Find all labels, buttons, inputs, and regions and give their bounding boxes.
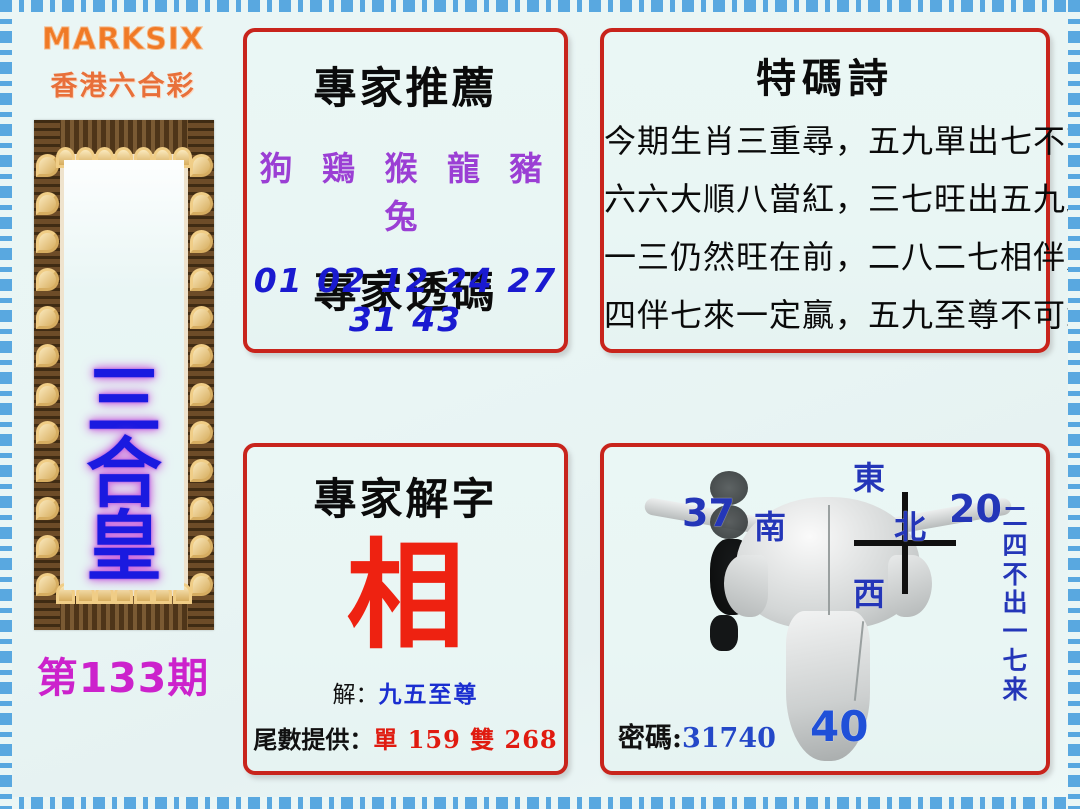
skull-lower-nasal-cavity (710, 615, 738, 651)
word-explanation-label: 解： (333, 682, 379, 708)
skull-number-left: 37 (682, 491, 735, 535)
skull-vertical-hint-text: 二四不出一七来 (998, 503, 1032, 704)
special-number-poem-panel: 特碼詩 今期生肖三重尋，五九單出七不離， 六六大順八當紅，三七旺出五九跟。 一三… (600, 28, 1050, 353)
tail-number-value: 單 159 雙 268 (373, 725, 557, 754)
poem-line-1: 今期生肖三重尋，五九單出七不離， (604, 116, 1046, 162)
poster-root: MARKSIX 香港六合彩 (0, 0, 1080, 809)
compass-south-label: 南 (754, 502, 786, 548)
recommendation-title: 專家推薦 (247, 54, 564, 116)
word-explanation-row: 解：九五至尊 (247, 675, 564, 709)
expert-recommendation-panel: 專家推薦 狗 鶏 猴 龍 豬 兔 專家透碼 01 02 12 24 27 31 … (243, 28, 568, 353)
tail-number-row: 尾數提供：單 159 雙 268 (247, 720, 564, 755)
frame-left-border (0, 0, 12, 809)
left-column: MARKSIX 香港六合彩 (12, 12, 234, 797)
skull-left-brow (724, 555, 768, 617)
expert-word-panel: 專家解字 相 解：九五至尊 尾數提供：單 159 雙 268 (243, 443, 568, 775)
skull-number-right: 20 (949, 487, 1002, 531)
frame-top-border (0, 0, 1080, 12)
compass-north-label: 北 (894, 502, 926, 548)
ornate-plaque: 三合皇 (34, 120, 214, 630)
plaque-title-text: 三合皇 (86, 365, 162, 584)
poem-title: 特碼詩 (604, 46, 1046, 104)
frame-bottom-border (0, 797, 1080, 809)
skull-crack-upper (828, 505, 830, 615)
brand-chinese-logo: 香港六合彩 (12, 64, 234, 103)
compass-east-label: 東 (853, 453, 885, 499)
frame-right-border (1068, 0, 1080, 809)
recommended-numbers: 01 02 12 24 27 31 43 (247, 261, 564, 339)
compass-west-label: 西 (853, 569, 885, 615)
plaque-right-scroll-ornaments (188, 146, 214, 604)
word-explanation-value: 九五至尊 (379, 681, 479, 708)
secret-code-label: 密碼: (618, 723, 682, 754)
brand-english-logo: MARKSIX (12, 22, 234, 57)
plaque-left-scroll-ornaments (34, 146, 60, 604)
featured-character: 相 (247, 537, 564, 655)
poem-line-3: 一三仍然旺在前，二八二七相伴走， (604, 232, 1046, 278)
secret-code-value: 31740 (682, 723, 776, 754)
secret-code-row: 密碼:31740 (618, 716, 776, 755)
poem-line-4: 四伴七來一定贏，五九至尊不可鬆。 (604, 290, 1046, 336)
word-panel-title: 專家解字 (247, 465, 564, 527)
skull-number-bottom: 40 (810, 702, 868, 751)
plaque-inner-surface: 三合皇 (64, 160, 184, 590)
skull-illustration-area: 東 西 南 北 37 20 40 二四不出一七来 密碼:31740 (604, 447, 1046, 771)
skull-compass-panel: 東 西 南 北 37 20 40 二四不出一七来 密碼:31740 (600, 443, 1050, 775)
zodiac-list: 狗 鶏 猴 龍 豬 兔 (247, 142, 564, 238)
issue-number: 第133期 (12, 644, 234, 704)
tail-number-label: 尾數提供： (253, 725, 373, 754)
poem-line-2: 六六大順八當紅，三七旺出五九跟。 (604, 174, 1046, 220)
